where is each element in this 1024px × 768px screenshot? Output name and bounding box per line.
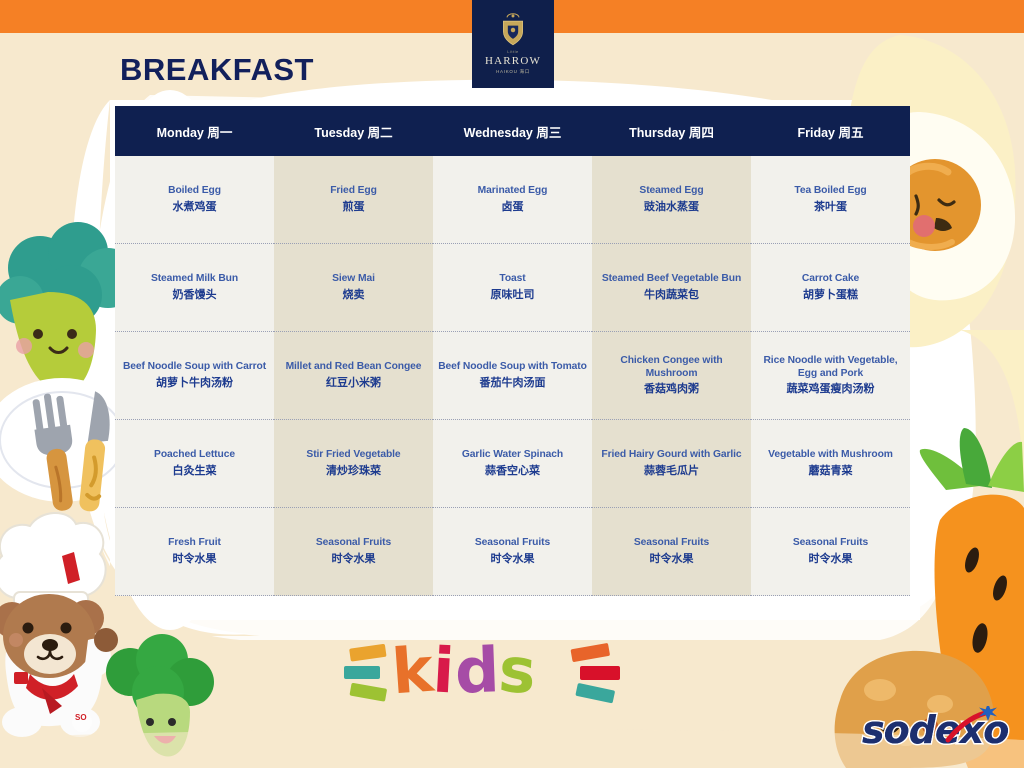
dish-name-zh: 蔬菜鸡蛋瘦肉汤粉 (787, 382, 875, 396)
dish-name-en: Fresh Fruit (168, 537, 221, 550)
kids-letter-d: d (453, 633, 500, 708)
svg-text:SO: SO (75, 713, 87, 722)
kids-logo: kids (330, 628, 630, 718)
dish-name-zh: 时令水果 (173, 552, 217, 566)
menu-cell: Marinated Egg卤蛋 (433, 156, 592, 244)
dish-name-zh: 胡萝卜蛋糕 (803, 288, 858, 302)
menu-column-header-4: Friday 周五 (751, 106, 910, 156)
menu-cell: Seasonal Fruits时令水果 (592, 508, 751, 596)
menu-column-header-1: Tuesday 周二 (274, 106, 433, 156)
kids-wordmark: kids (392, 634, 536, 707)
menu-cell: Tea Boiled Egg茶叶蛋 (751, 156, 910, 244)
menu-cell: Vegetable with Mushroom蘑菇青菜 (751, 420, 910, 508)
dish-name-zh: 蒜香空心菜 (485, 464, 540, 478)
dish-name-zh: 蘑菇青菜 (809, 464, 853, 478)
dish-name-en: Stir Fried Vegetable (306, 449, 400, 462)
dish-name-en: Carrot Cake (802, 273, 859, 286)
menu-cell: Poached Lettuce白灸生菜 (115, 420, 274, 508)
menu-cell: Steamed Egg豉油水蒸蛋 (592, 156, 751, 244)
dish-name-zh: 卤蛋 (502, 200, 524, 214)
dish-name-en: Steamed Beef Vegetable Bun (602, 273, 741, 286)
dish-name-en: Steamed Egg (639, 185, 703, 198)
dish-name-en: Tea Boiled Egg (794, 185, 866, 198)
dish-name-en: Seasonal Fruits (793, 537, 868, 550)
harrow-logo-sub: HAIKOU 海口 (496, 69, 530, 75)
menu-cell: Carrot Cake胡萝卜蛋糕 (751, 244, 910, 332)
dish-name-en: Beef Noodle Soup with Carrot (123, 361, 266, 374)
dish-name-zh: 番茄牛肉汤面 (480, 376, 546, 390)
dish-name-en: Vegetable with Mushroom (768, 449, 893, 462)
dish-name-zh: 蒜蓉毛瓜片 (644, 464, 699, 478)
menu-table-header-row: Monday 周一Tuesday 周二Wednesday 周三Thursday … (115, 106, 910, 156)
kids-letter-s: s (496, 633, 538, 708)
dish-name-en: Toast (499, 273, 525, 286)
menu-cell: Beef Noodle Soup with Tomato番茄牛肉汤面 (433, 332, 592, 420)
dish-name-en: Fried Egg (330, 185, 377, 198)
menu-cell: Garlic Water Spinach蒜香空心菜 (433, 420, 592, 508)
menu-column-header-0: Monday 周一 (115, 106, 274, 156)
harrow-logo-name: HARROW (485, 55, 541, 67)
dish-name-zh: 水煮鸡蛋 (173, 200, 217, 214)
harrow-crest-icon (498, 13, 528, 47)
section-title: BREAKFAST (120, 52, 314, 88)
dish-name-zh: 时令水果 (650, 552, 694, 566)
dish-name-en: Chicken Congee with Mushroom (620, 355, 722, 380)
dish-name-zh: 时令水果 (809, 552, 853, 566)
menu-cell: Fresh Fruit时令水果 (115, 508, 274, 596)
menu-cell: Steamed Milk Bun奶香馒头 (115, 244, 274, 332)
dish-name-zh: 清炒珍珠菜 (326, 464, 381, 478)
menu-cell: Seasonal Fruits时令水果 (433, 508, 592, 596)
dish-name-en: Rice Noodle with Vegetable, Egg and Pork (763, 355, 897, 380)
dish-name-zh: 茶叶蛋 (814, 200, 847, 214)
dish-name-zh: 原味吐司 (491, 288, 535, 302)
dish-name-zh: 烧卖 (343, 288, 365, 302)
menu-cell: Fried Egg煎蛋 (274, 156, 433, 244)
dish-name-zh: 时令水果 (332, 552, 376, 566)
menu-column-2: Marinated Egg卤蛋Toast原味吐司Beef Noodle Soup… (433, 156, 592, 596)
menu-column-0: Boiled Egg水煮鸡蛋Steamed Milk Bun奶香馒头Beef N… (115, 156, 274, 596)
sodexo-swoosh-star-icon (862, 706, 1012, 754)
kids-letter-i: i (431, 633, 456, 707)
dish-name-en: Seasonal Fruits (634, 537, 709, 550)
dish-name-en: Garlic Water Spinach (462, 449, 563, 462)
dish-name-en: Millet and Red Bean Congee (286, 361, 422, 374)
menu-column-3: Steamed Egg豉油水蒸蛋Steamed Beef Vegetable B… (592, 156, 751, 596)
menu-table-body: Boiled Egg水煮鸡蛋Steamed Milk Bun奶香馒头Beef N… (115, 156, 910, 596)
menu-column-4: Tea Boiled Egg茶叶蛋Carrot Cake胡萝卜蛋糕Rice No… (751, 156, 910, 596)
kids-letter-k: k (390, 633, 436, 709)
menu-cell: Fried Hairy Gourd with Garlic蒜蓉毛瓜片 (592, 420, 751, 508)
dish-name-en: Steamed Milk Bun (151, 273, 238, 286)
dish-name-en: Marinated Egg (478, 185, 548, 198)
harrow-logo: Little HARROW HAIKOU 海口 (472, 0, 554, 88)
dish-name-en: Poached Lettuce (154, 449, 235, 462)
menu-cell: Steamed Beef Vegetable Bun牛肉蔬菜包 (592, 244, 751, 332)
dish-name-en: Beef Noodle Soup with Tomato (438, 361, 587, 374)
dish-name-zh: 牛肉蔬菜包 (644, 288, 699, 302)
dish-name-en: Fried Hairy Gourd with Garlic (601, 449, 741, 462)
menu-column-header-2: Wednesday 周三 (433, 106, 592, 156)
dish-name-zh: 奶香馒头 (173, 288, 217, 302)
menu-cell: Stir Fried Vegetable清炒珍珠菜 (274, 420, 433, 508)
harrow-logo-tiny: Little (507, 49, 518, 54)
sodexo-logo: sodexo sodexo (862, 706, 1012, 754)
dish-name-zh: 胡萝卜牛肉汤粉 (156, 376, 233, 390)
menu-cell: Seasonal Fruits时令水果 (274, 508, 433, 596)
menu-column-1: Fried Egg煎蛋Siew Mai烧卖Millet and Red Bean… (274, 156, 433, 596)
menu-cell: Rice Noodle with Vegetable, Egg and Pork… (751, 332, 910, 420)
menu-cell: Siew Mai烧卖 (274, 244, 433, 332)
menu-cell: Toast原味吐司 (433, 244, 592, 332)
dish-name-en: Seasonal Fruits (475, 537, 550, 550)
menu-cell: Chicken Congee with Mushroom香菇鸡肉粥 (592, 332, 751, 420)
dish-name-zh: 煎蛋 (343, 200, 365, 214)
dish-name-zh: 香菇鸡肉粥 (644, 382, 699, 396)
dish-name-zh: 白灸生菜 (173, 464, 217, 478)
menu-column-header-3: Thursday 周四 (592, 106, 751, 156)
dish-name-en: Siew Mai (332, 273, 375, 286)
dish-name-zh: 红豆小米粥 (326, 376, 381, 390)
menu-cell: Beef Noodle Soup with Carrot胡萝卜牛肉汤粉 (115, 332, 274, 420)
menu-cell: Seasonal Fruits时令水果 (751, 508, 910, 596)
menu-table: Monday 周一Tuesday 周二Wednesday 周三Thursday … (115, 106, 910, 596)
dish-name-en: Boiled Egg (168, 185, 221, 198)
dish-name-zh: 时令水果 (491, 552, 535, 566)
dish-name-en: Seasonal Fruits (316, 537, 391, 550)
menu-cell: Boiled Egg水煮鸡蛋 (115, 156, 274, 244)
dish-name-zh: 豉油水蒸蛋 (644, 200, 699, 214)
menu-cell: Millet and Red Bean Congee红豆小米粥 (274, 332, 433, 420)
